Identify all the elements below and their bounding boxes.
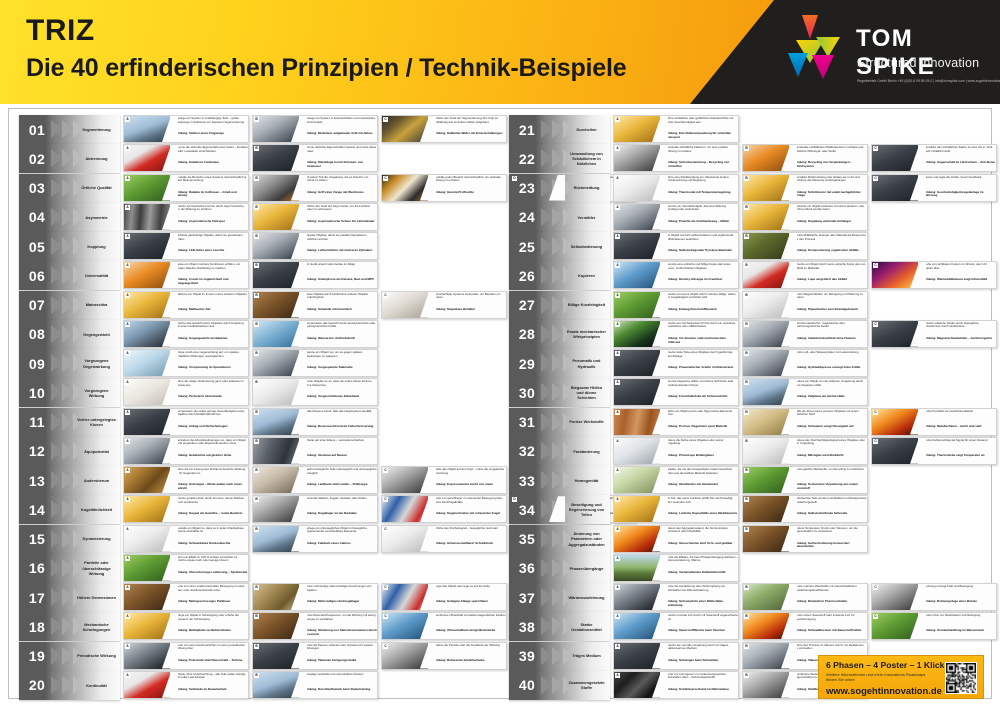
example-card[interactable]: CErhöhe den Freiheitsgrad – beweglicher … <box>381 525 507 553</box>
example-card[interactable]: BKoppele Objekte, damit sie parallel Ope… <box>252 232 378 260</box>
principle-row: 04AsymmetrieAErsetze symmetrische Formen… <box>19 203 491 232</box>
example-card[interactable]: AEin Objekt soll sich selbst bedienen un… <box>613 232 739 260</box>
example-card[interactable]: ATrenne die störende Eigenschaft eines T… <box>123 144 249 172</box>
example-card[interactable]: BZerlege ein System in austauschbare und… <box>252 115 378 143</box>
example-card[interactable]: ABenutze eine einfache und billige Kopie… <box>613 261 739 289</box>
example-card[interactable]: CVerschachtele Systeme ineinander, um Ba… <box>381 291 507 319</box>
example-caption: Bildung: Dummy-Attrappe im Crashtest <box>666 278 738 287</box>
example-card[interactable]: AErsetze ein mechanisches Prinzip durch … <box>613 320 739 348</box>
example-caption: Bildung: Halbleiter-Wafer mit Einzelscha… <box>434 132 506 141</box>
example-caption: Bildung: Lösliche Kapselhülle eines Medi… <box>666 512 738 521</box>
example-card[interactable]: ANutze die Ausdehnung oder Schrumpfung v… <box>613 583 739 611</box>
example-letter-badge: C <box>383 117 388 122</box>
example-letter-badge: B <box>254 439 259 444</box>
principle-row: 15DynamisierungAGestalte ein Objekt so, … <box>19 525 491 554</box>
example-caption: Bildung: Recycling von Verpackungen – Pf… <box>795 161 867 170</box>
example-card[interactable]: BGib jedem Teil die Umgebung, die es bra… <box>252 174 378 202</box>
example-letter-badge: A <box>125 263 130 268</box>
brand-name: TOM SPIKE <box>856 25 1000 81</box>
principle-band-20[interactable]: 20Kontinuität <box>19 671 120 700</box>
example-card[interactable]: BVerwandle schädliches Abfallmaterial in… <box>742 144 868 172</box>
thumbnail-image <box>253 321 299 347</box>
thumbnail-image <box>743 350 789 376</box>
example-letter-badge: B <box>254 614 259 619</box>
example-card[interactable]: ABringe vorab eine Gegenwirkung auf, um … <box>123 349 249 377</box>
example-thumbnail <box>743 526 789 552</box>
principle-band-11[interactable]: 11Vorher untergelegtes Kissen <box>19 408 120 437</box>
example-text: Benutze ein Vermittlerobjekt, das eine W… <box>666 205 738 218</box>
example-letter-badge: A <box>125 146 130 151</box>
example-card[interactable]: CErhöhe den Grad der Segmentierung: Ein … <box>381 115 507 143</box>
principle-row: 23RückmeldungAFühre eine Rückkopplung ei… <box>509 174 981 203</box>
example-thumbnail <box>124 584 170 610</box>
example-thumbnail <box>614 233 660 259</box>
example-card[interactable]: BNutze Resonanzfrequenzen, um die Wirkun… <box>252 612 378 640</box>
example-card[interactable]: BVerbinde ein Objekt zeitweise mit einem… <box>742 203 868 231</box>
example-card[interactable]: CMesse und regle die Größe, bevor Feedba… <box>871 174 997 202</box>
example-card[interactable]: ABenutze ein Vermittlerobjekt, das eine … <box>613 203 739 231</box>
thumbnail-image <box>614 175 660 201</box>
principle-name: Mechanische Schwingungen <box>75 612 118 641</box>
example-card[interactable]: AKehre die zur Lösung des Problems benut… <box>123 466 249 494</box>
principle-number: 38 <box>513 612 541 641</box>
example-card[interactable]: CNeige das Objekt oder lege es auf die S… <box>381 583 507 611</box>
principle-number: 19 <box>23 642 51 671</box>
principle-number: 05 <box>23 232 51 261</box>
example-card[interactable]: AVerändere die Arbeitsbedingungen so, da… <box>123 437 249 465</box>
example-caption: Bildung: Seilwinde im Dauerbetrieb <box>176 688 248 697</box>
example-thumbnail <box>743 175 789 201</box>
example-text: Ändere die Periode oder die Amplitude de… <box>434 644 506 657</box>
thumbnail-image <box>614 672 660 698</box>
example-card[interactable]: BLasse Objekte durch Hohlräume anderer O… <box>252 291 378 319</box>
principle-row: 32FarbänderungAÄndere die Farbe eines Ob… <box>509 437 981 466</box>
example-card[interactable]: AGleiche das Gewicht eines Objektes durc… <box>123 320 249 348</box>
example-card[interactable]: BErsetze ein Objekt durch seine optische… <box>742 261 868 289</box>
thumbnail-image <box>124 262 170 288</box>
principle-band-30[interactable]: 30Biegsame Hüllen und dünne Schichten <box>509 378 610 407</box>
principle-band-08[interactable]: 08Gegengewicht <box>19 320 120 349</box>
principle-number: 35 <box>513 525 541 554</box>
example-text: Kompensiere das Gewicht durch aerodynami… <box>305 322 377 335</box>
principle-row: 07MatroschkaAPlatziere ein Objekt im Inn… <box>19 291 491 320</box>
example-letter-badge: C <box>383 497 388 502</box>
example-card[interactable]: BVerbrauchte Teile werden unmittelbar im… <box>742 495 868 523</box>
example-card[interactable]: BBenutze elektrische, magnetische oder e… <box>742 320 868 348</box>
thumbnail-image <box>253 262 299 288</box>
principle-row: 12ÄquipotentialAVerändere die Arbeitsbed… <box>19 437 491 466</box>
example-text: Nutze Luft- oder Wasserpolster zur Lastv… <box>795 351 867 364</box>
example-text: Nutze Porösität zur Gewichtsreduktion <box>924 410 996 423</box>
thumbnail-image <box>382 116 428 142</box>
principle-row: 19Periodische WirkungAGehe von einer kon… <box>19 642 491 671</box>
example-letter-badge: C <box>873 263 878 268</box>
example-letter-badge: A <box>125 205 130 210</box>
example-card[interactable]: AGehe von homogenen zu zusammengesetzten… <box>613 671 739 699</box>
thumbnail-image <box>614 292 660 318</box>
example-letter-badge: B <box>254 234 259 239</box>
thumbnail-image <box>382 584 428 610</box>
example-letter-badge: A <box>125 380 130 385</box>
principle-band-25[interactable]: 25Selbstbedienung <box>509 232 610 261</box>
example-card[interactable]: AFühre eine Rückkopplung ein: Messwerte … <box>613 174 739 202</box>
example-thumbnail <box>124 233 170 259</box>
example-thumbnail <box>124 204 170 230</box>
example-card[interactable]: BKompensiere das Gewicht durch aerodynam… <box>252 320 378 348</box>
example-card[interactable]: AMache ein Objekt porös oder füge poröse… <box>613 408 739 436</box>
thumbnail-image <box>614 526 660 552</box>
example-thumbnail <box>382 584 428 610</box>
example-card[interactable]: BTrenne nützliche Eigenschaften heraus u… <box>252 144 378 172</box>
principle-row: 36PhasenübergängeANutze die Effekte, die… <box>509 554 981 583</box>
example-card[interactable]: AGehe von einer eindimensionalen Bewegun… <box>123 583 249 611</box>
example-caption: Bildung: Stapelbare Behälter <box>434 308 506 317</box>
example-thumbnail <box>743 321 789 347</box>
thumbnail-image <box>743 292 789 318</box>
principle-band-39[interactable]: 39Träges Medium <box>509 642 610 671</box>
example-card[interactable]: CKombiniere Ultraschall mit elektromagne… <box>381 612 507 640</box>
example-card[interactable]: BNutze Wegwerfartikel, um Reinigung und … <box>742 291 868 319</box>
example-caption: Bildung: Gefriertrocknung konserviert Le… <box>795 542 867 551</box>
example-letter-badge: A <box>615 644 620 649</box>
example-thumbnail <box>124 555 170 581</box>
principle-band-16[interactable]: 16Partielle oder überschlässige Wirkung <box>19 554 120 583</box>
example-text: Verwende Walzen, Kugeln, Spiralen oder R… <box>305 497 377 510</box>
principle-number: 29 <box>513 349 541 378</box>
principle-band-06[interactable]: 06Universalität <box>19 261 120 290</box>
example-text: Kehre die zur Lösung des Problems benutz… <box>176 468 248 481</box>
example-card[interactable]: CNutze Farbumschlag als Signal für einen… <box>871 437 997 465</box>
thumbnail-image <box>743 233 789 259</box>
example-card[interactable]: ANutze die Effekte, die beim Phasenüberg… <box>613 554 739 582</box>
example-letter-badge: B <box>744 673 749 678</box>
example-letter-badge: A <box>615 497 620 502</box>
example-card[interactable]: BArbeite auf einer Ebene – vermeide Huba… <box>252 437 378 465</box>
example-caption: Bildung: Espressokanne kocht von unten <box>434 483 506 492</box>
principle-number: 13 <box>23 466 51 495</box>
example-card[interactable]: BErhöhe den Grad der Asymmetrie, um die … <box>252 203 378 231</box>
example-thumbnail <box>253 350 299 376</box>
example-card[interactable]: AObjekte, die mit dem Hauptobjekt zusamm… <box>613 466 739 494</box>
example-caption: Bildung: Airbag und Sicherheitsgurt <box>176 425 248 434</box>
thumbnail-image <box>253 496 299 522</box>
example-text: Gehe von homogenen zu zusammengesetzten … <box>666 673 738 686</box>
example-card[interactable]: AArbeite ohne Unterbrechung – alle Teile… <box>123 671 249 699</box>
principle-name: Pneumatik und Hydraulik <box>565 349 608 378</box>
principle-band-17[interactable]: 17Höhere Dimensionen <box>19 583 120 612</box>
principle-row: 08GegengewichtAGleiche das Gewicht eines… <box>19 320 491 349</box>
example-card[interactable]: CVerstärke den schädlichen Faktor so wei… <box>871 144 997 172</box>
thumbnail-image <box>743 409 789 435</box>
example-text: Nutze die Effekte, die beim Phasenüberga… <box>666 556 738 569</box>
principle-band-15[interactable]: 15Dynamisierung <box>19 525 120 554</box>
principle-band-24[interactable]: 24Vermittler <box>509 203 610 232</box>
example-card[interactable]: BHalte Reserve bereit, falls das Hauptsy… <box>252 408 378 436</box>
thumbnail-image <box>253 409 299 435</box>
principle-row: 35Änderung von Parametern oder Aggregatz… <box>509 525 981 554</box>
principle-row: 37WärmeausdehnungANutze die Ausdehnung o… <box>509 583 981 612</box>
example-card[interactable]: CErsetze statische Felder durch beweglic… <box>871 320 997 348</box>
principle-band-32[interactable]: 32Farbänderung <box>509 437 610 466</box>
example-card[interactable]: AFühre schädliche oder gefährliche Arbei… <box>613 115 739 143</box>
example-text: Spanne ein Objekt vor, um es gegen späte… <box>305 351 377 364</box>
example-text: Verstärke den schädlichen Faktor so weit… <box>924 146 996 159</box>
example-caption: Bildung: Überschüssige Lackierung – Sprü… <box>176 571 248 580</box>
example-thumbnail <box>124 350 170 376</box>
thumbnail-image <box>382 292 428 318</box>
example-thumbnail <box>872 613 918 639</box>
example-caption: Bildung: Gegenschall im Lärmschutz – Ant… <box>924 161 996 170</box>
example-caption: Bildung: Dehnungsfuge einer Brücke <box>924 600 996 609</box>
principle-band-31[interactable]: 31Poröse Werkstoffe <box>509 408 610 437</box>
example-thumbnail <box>253 672 299 698</box>
principle-band-26[interactable]: 26Kopieren <box>509 261 610 290</box>
principle-row: 18Mechanische SchwingungenABringe ein Ob… <box>19 612 491 641</box>
thumbnail-image <box>614 350 660 376</box>
thumbnail-image <box>872 321 918 347</box>
example-card[interactable]: AFühre die nötige Veränderung ganz oder … <box>123 378 249 406</box>
example-caption: Bildung: Mehrstufiges Hochregallager <box>305 600 377 609</box>
principle-row: 16Partielle oder überschlässige WirkungA… <box>19 554 491 583</box>
example-caption: Bildung: Schrittmotor mit exakt nachgefü… <box>795 191 867 200</box>
principle-band-29[interactable]: 29Pneumatik und Hydraulik <box>509 349 610 378</box>
principle-band-02[interactable]: 02Abtrennung <box>19 144 120 173</box>
thumbnail-image <box>253 379 299 405</box>
example-caption: Bildung: Kompostierung organischer Abfäl… <box>795 249 867 258</box>
example-card[interactable]: BNutze Luft- oder Wasserpolster zur Last… <box>742 349 868 377</box>
example-card[interactable]: AKompensiere die relativ geringe Zuverlä… <box>123 408 249 436</box>
example-card[interactable]: BVerstärke Rückmeldung oder ändere sie i… <box>742 174 868 202</box>
example-card[interactable]: CÄndere die Periode oder die Amplitude d… <box>381 642 507 670</box>
example-card[interactable]: BBeseitige Leerläufe und unproduktive Pa… <box>252 671 378 699</box>
thumbnail-image <box>253 116 299 142</box>
example-letter-badge: C <box>383 293 388 298</box>
principle-row: 29Pneumatik und HydraulikAErsetze feste … <box>509 349 981 378</box>
example-card[interactable]: AErsetze gerade Linien durch krumme, ebe… <box>123 495 249 523</box>
example-card[interactable]: BEin Gerät ersetzt viele Geräte im Allta… <box>252 261 378 289</box>
principle-band-05[interactable]: 05Kopplung <box>19 232 120 261</box>
example-text: Ersetze ein teures Objekt durch mehrere … <box>666 293 738 306</box>
example-card[interactable]: AErsetze feste Teile eines Objektes durc… <box>613 349 739 377</box>
example-card[interactable]: BNutze die Pausen zwischen den Impulsen … <box>252 642 378 670</box>
example-thumbnail <box>253 467 299 493</box>
thumbnail-image <box>124 526 170 552</box>
example-thumbnail <box>743 204 789 230</box>
example-thumbnail <box>614 438 660 464</box>
principle-row: 09Vorgezogene GegenwirkungABringe vorab … <box>19 349 491 378</box>
example-caption: Bildung: Perforierte Abrisskante <box>176 395 248 404</box>
example-card[interactable]: BSpanne ein Objekt vor, um es gegen spät… <box>252 349 378 377</box>
qr-code-icon[interactable] <box>945 662 977 694</box>
example-caption: Bildung: Mehrgeschossiges Parkhaus <box>176 600 248 609</box>
example-text: Gehe von geradliniger zu rotierender Bew… <box>434 497 506 510</box>
example-caption: Bildung: Schwamm saugt Flüssigkeit auf <box>795 425 867 434</box>
principle-band-22[interactable]: 22Umwandlung von Schädlichem in Nützlich… <box>509 144 610 173</box>
example-letter-badge: C <box>873 614 878 619</box>
example-card[interactable]: BNutze mehrstufige statt einstufige Anor… <box>252 583 378 611</box>
principle-name: Vorgezogene Wirkung <box>75 378 118 407</box>
principle-band-40[interactable]: 40Zusammengesetzte Stoffe <box>509 671 610 700</box>
principle-band-21[interactable]: 21Durcheilen <box>509 115 610 144</box>
example-thumbnail <box>614 526 660 552</box>
example-card[interactable]: BNutze reinen Sauerstoff oder ionisierte… <box>742 612 868 640</box>
principle-band-18[interactable]: 18Mechanische Schwingungen <box>19 612 120 641</box>
example-text: Nutze die Pausen zwischen den Impulsen f… <box>305 644 377 657</box>
example-card[interactable]: BÄndere Temperatur, Druck oder Volumen, … <box>742 525 868 553</box>
principle-band-13[interactable]: 13Andersherum <box>19 466 120 495</box>
example-letter-badge: B <box>744 380 749 385</box>
example-text: Nutze mehrere Werkstoffe mit unterschied… <box>795 585 867 598</box>
principle-band-04[interactable]: 04Asymmetrie <box>19 203 120 232</box>
example-letter-badge: A <box>125 410 130 415</box>
example-card[interactable]: BZerlege ein unbewegliches Objekt in bew… <box>252 525 378 553</box>
principle-name: Starke Oxidationsmittel <box>565 612 608 641</box>
example-letter-badge: A <box>125 614 130 619</box>
principle-band-37[interactable]: 37Wärmeausdehnung <box>509 583 610 612</box>
example-thumbnail <box>614 175 660 201</box>
example-text: Erhöhe den Freiheitsgrad – beweglicher s… <box>434 527 506 540</box>
example-card[interactable]: CNutze Ozon zur Desinfektion und Reinigu… <box>871 612 997 640</box>
example-card[interactable]: AZerlege ein System in unabhängige Teile… <box>123 115 249 143</box>
example-letter-badge: A <box>125 556 130 561</box>
example-card[interactable]: ABenutze biegsame Hüllen und dünne Schic… <box>613 378 739 406</box>
example-letter-badge: C <box>383 468 388 473</box>
example-thumbnail <box>124 467 170 493</box>
example-card[interactable]: BOrdne Objekte so an, dass sie sofort wi… <box>252 378 378 406</box>
example-caption: Bildung: Hebebühne auf gleicher Höhe <box>176 454 248 463</box>
principle-band-19[interactable]: 19Periodische Wirkung <box>19 642 120 671</box>
example-caption: Bildung: Schatulle mit Innenfach <box>305 308 377 317</box>
principle-number: 08 <box>23 320 51 349</box>
example-card[interactable]: BFülle die Poren eines porösen Objektes … <box>742 408 868 436</box>
principle-row: 10Vorgezogene WirkungAFühre die nötige V… <box>19 378 491 407</box>
example-thumbnail <box>124 379 170 405</box>
promo-box[interactable]: 6 Phasen – 4 Poster – 1 Klick! Weitere I… <box>818 655 984 699</box>
example-card[interactable]: BNutze mehrere Werkstoffe mit unterschie… <box>742 583 868 611</box>
example-card[interactable]: AEin Teil, das seine Funktion erfüllt ha… <box>613 495 739 523</box>
principle-band-35[interactable]: 35Änderung von Parametern oder Aggregatz… <box>509 525 610 554</box>
thumbnail-image <box>614 145 660 171</box>
example-card[interactable]: APlatziere ein Objekt im Inneren eines a… <box>123 291 249 319</box>
example-card[interactable]: BIsoliere ein Objekt von der äußeren Umg… <box>742 378 868 406</box>
example-letter-badge: B <box>254 205 259 210</box>
thumbnail-image <box>124 438 170 464</box>
example-card[interactable]: CGestalte jeden Bereich unterschiedlich,… <box>381 174 507 202</box>
principle-row: 01SegmentierungAZerlege ein System in un… <box>19 115 491 144</box>
example-thumbnail <box>382 526 428 552</box>
example-card[interactable]: BVerwende Walzen, Kugeln, Spiralen oder … <box>252 495 378 523</box>
example-thumbnail <box>743 438 789 464</box>
example-card[interactable]: CGehe von geradliniger zu rotierender Be… <box>381 495 507 523</box>
example-thumbnail <box>743 643 789 669</box>
example-card[interactable]: CStelle das Objekt auf den Kopf – nutze … <box>381 466 507 494</box>
example-text: Isoliere ein Objekt von der äußeren Umge… <box>795 380 867 393</box>
example-card[interactable]: CNutze Porösität zur GewichtsreduktionBi… <box>871 408 997 436</box>
principle-band-10[interactable]: 10Vorgezogene Wirkung <box>19 378 120 407</box>
example-text: Nutze die Ausdehnung oder Schrumpfung vo… <box>666 585 738 598</box>
example-caption: Bildung: Schwenkbare Deckenleuchte <box>176 542 248 551</box>
thumbnail-image <box>124 467 170 493</box>
example-caption: Bildung: Magnetschwebebahn – berührungsf… <box>924 337 996 346</box>
example-thumbnail <box>253 116 299 142</box>
example-card[interactable]: AGehe von einer kontinuierlichen zu eine… <box>123 642 249 670</box>
thumbnail-image <box>614 321 660 347</box>
principle-band-03[interactable]: 03Örtliche Qualität <box>19 174 120 203</box>
principle-row: 13AndersherumAKehre die zur Lösung des P… <box>19 466 491 495</box>
example-card[interactable]: AGestalte ein Objekt so, dass es in jede… <box>123 525 249 553</box>
principle-name: Poröse Werkstoffe <box>565 408 608 437</box>
example-text: Benutze elektrische, magnetische oder el… <box>795 322 867 335</box>
example-card[interactable]: BNutze gleiche Werkstoffe, um Recycling … <box>742 466 868 494</box>
principle-number: 03 <box>23 174 51 203</box>
example-caption: Bildung: Pulsstrahl statt Dauerstrahl – … <box>176 659 248 668</box>
example-thumbnail <box>872 321 918 347</box>
example-card[interactable]: BMache bewegliche Teile unbeweglich und … <box>252 466 378 494</box>
example-card[interactable]: ABringe ein Objekt in Schwingung oder er… <box>123 612 249 640</box>
example-text: Ersetze die normale Umgebung durch ein t… <box>666 644 738 657</box>
principle-row: 22Umwandlung von Schädlichem in Nützlich… <box>509 144 981 173</box>
thumbnail-image <box>382 175 428 201</box>
example-card[interactable]: ALasse ein Objekt mehrere Funktionen erf… <box>123 261 249 289</box>
example-letter-badge: B <box>744 351 749 356</box>
example-card[interactable]: BNutze Abfallstoffe, Energie oder Materi… <box>742 232 868 260</box>
principle-number: 25 <box>513 232 541 261</box>
principle-band-09[interactable]: 09Vorgezogene Gegenwirkung <box>19 349 120 378</box>
principle-band-36[interactable]: 36Phasenübergänge <box>509 554 610 583</box>
example-card[interactable]: CGehe von sichtbaren Kopien zu Infrarot-… <box>871 261 997 289</box>
principle-band-01[interactable]: 01Segmentierung <box>19 115 120 144</box>
example-thumbnail <box>253 409 299 435</box>
example-card[interactable]: AErsetze ein teures Objekt durch mehrere… <box>613 291 739 319</box>
example-thumbnail <box>614 204 660 230</box>
principle-number: 01 <box>23 115 51 144</box>
example-card[interactable]: AErsetze die normale Umgebung durch ein … <box>613 642 739 670</box>
example-thumbnail <box>253 526 299 552</box>
example-text: Nutze Abfallstoffe, Energie oder Materia… <box>795 234 867 247</box>
example-card[interactable]: AÄndere die Farbe eines Objektes oder se… <box>613 437 739 465</box>
principle-band-33[interactable]: 33Homogenität <box>509 466 610 495</box>
thumbnail-image <box>872 438 918 464</box>
example-caption: Bildung: Sektion eines Flugzeugs <box>176 132 248 141</box>
example-card[interactable]: BÄndere den Durchsichtigkeitsgrad eines … <box>742 437 868 465</box>
example-thumbnail <box>743 613 789 639</box>
example-letter-badge: A <box>615 263 620 268</box>
example-card[interactable]: AGestalte die Bereiche eines Systems unt… <box>123 174 249 202</box>
principle-band-14[interactable]: 14Kugelähnlichkeit <box>19 495 120 524</box>
triz-poster: TRIZ Die 40 erfinderischen Prinzipien / … <box>0 0 1000 707</box>
example-card[interactable]: AErsetze normale Luft durch mit Sauersto… <box>613 612 739 640</box>
promo-url[interactable]: www.sogehtinnovation.de <box>826 685 942 696</box>
header-yellow-banner <box>0 0 790 104</box>
example-card[interactable]: CDehnung erzeugt Kraft und BewegungBildu… <box>871 583 997 611</box>
principle-name: Gegengewicht <box>75 320 118 349</box>
principle-band-12[interactable]: 12Äquipotential <box>19 437 120 466</box>
principle-band-38[interactable]: 38Starke Oxidationsmittel <box>509 612 610 641</box>
principle-band-27[interactable]: 27Billige Kurzlebigkeit <box>509 291 610 320</box>
thumbnail-image <box>743 175 789 201</box>
example-card[interactable]: AErsetze symmetrische Formen durch asymm… <box>123 203 249 231</box>
principle-band-28[interactable]: 28Ersatz mechanischer Wirkprinzipien <box>509 320 610 349</box>
example-text: Gleiche das Gewicht eines Objektes durch… <box>176 322 248 335</box>
principle-band-07[interactable]: 07Matroschka <box>19 291 120 320</box>
example-card[interactable]: AVerbinde gleichartige Objekte, damit si… <box>123 232 249 260</box>
example-thumbnail <box>382 643 428 669</box>
principle-name: Änderung von Parametern oder Aggregatzus… <box>565 525 608 554</box>
example-card[interactable]: AÄndere den Aggregatzustand, die Konzent… <box>613 525 739 553</box>
example-letter-badge: B <box>254 497 259 502</box>
example-card[interactable]: AVerwende schädliche Faktoren, um eine p… <box>613 144 739 172</box>
example-card[interactable]: AWenn ein Effekt zu 100 % schwer erreich… <box>123 554 249 582</box>
